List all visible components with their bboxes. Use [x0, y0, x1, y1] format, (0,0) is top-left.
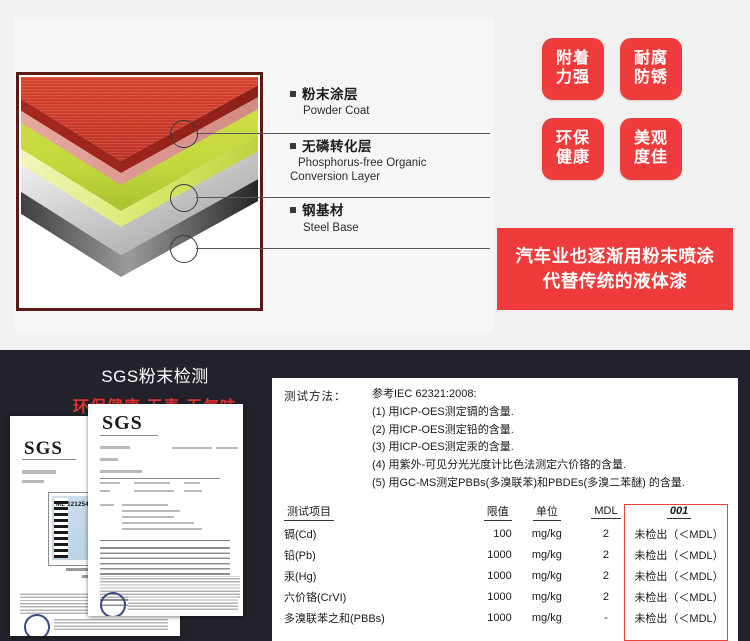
- cell-unit: mg/kg: [512, 544, 582, 565]
- layer-label-steel-en: Steel Base: [290, 221, 490, 235]
- cell-limit: 1000: [433, 586, 512, 607]
- layer-label-powder-cn: 粉末涂层: [290, 86, 490, 104]
- sgs-title-main: SGS粉末检测: [60, 362, 250, 387]
- cell-result: 未检出（＜MDL）: [630, 544, 728, 565]
- bullet-icon: [290, 207, 296, 213]
- feature-badge-eco: 环保 健康: [542, 118, 604, 180]
- layer-structure-diagram: [16, 72, 263, 311]
- cell-unit: mg/kg: [512, 586, 582, 607]
- cell-item: 汞(Hg): [284, 565, 433, 586]
- callout-circle-conversion: [170, 184, 198, 212]
- cell-mdl: -: [582, 607, 630, 628]
- cell-limit: 1000: [433, 565, 512, 586]
- feature-badge-appearance: 美观 度佳: [620, 118, 682, 180]
- cell-unit: mg/kg: [512, 523, 582, 544]
- bullet-icon: [290, 91, 296, 97]
- sgs-seal-front: [100, 592, 126, 616]
- layer-label-conversion: 无磷转化层 Phosphorus-free Organic Conversion…: [290, 138, 490, 188]
- slogan-banner: 汽车业也逐渐用粉末喷涂 代替传统的液体漆: [497, 228, 733, 310]
- cell-result: 未检出（＜MDL）: [630, 607, 728, 628]
- table-header-row: 测试项目 限值 单位 MDL 001: [284, 500, 728, 523]
- test-report-panel: 测试方法： 参考IEC 62321:2008: (1) 用ICP-OES测定镉的…: [272, 378, 738, 641]
- layer-label-powder: 粉末涂层 Powder Coat: [290, 86, 490, 122]
- feature-badge-eco-line1: 环保: [556, 130, 590, 149]
- cell-mdl: 2: [582, 523, 630, 544]
- test-method-line-5: (5) 用GC-MS测定PBBs(多溴联苯)和PBDEs(多溴二苯醚) 的含量.: [372, 475, 685, 493]
- test-method-lines: 参考IEC 62321:2008: (1) 用ICP-OES测定镉的含量. (2…: [372, 386, 685, 493]
- test-method-line-2: (2) 用ICP-OES测定铅的含量.: [372, 422, 685, 440]
- sgs-seal-back: [24, 614, 50, 636]
- layer-label-steel-cn: 钢基材: [290, 202, 490, 220]
- cell-limit: 1000: [433, 607, 512, 628]
- slogan-line1: 汽车业也逐渐用粉末喷涂: [515, 244, 714, 269]
- layer-label-conversion-en2: Conversion Layer: [290, 170, 490, 184]
- test-method-line-3: (3) 用ICP-OES测定汞的含量.: [372, 439, 685, 457]
- test-method-line-1: (1) 用ICP-OES测定镉的含量.: [372, 404, 685, 422]
- cell-unit: mg/kg: [512, 565, 582, 586]
- layer-label-conversion-cn-text: 无磷转化层: [302, 139, 372, 154]
- callout-circle-steel: [170, 235, 198, 263]
- test-method-line-0: 参考IEC 62321:2008:: [372, 386, 685, 404]
- sgs-section: SGS粉末检测 环保健康 无毒 无气味 SGS ML 1212541803 SG…: [0, 350, 750, 641]
- diagram-canvas: [21, 77, 258, 306]
- cell-result: 未检出（＜MDL）: [630, 523, 728, 544]
- cell-item: 铅(Pb): [284, 544, 433, 565]
- cell-unit: mg/kg: [512, 607, 582, 628]
- feature-badge-eco-line2: 健康: [556, 149, 590, 168]
- layer-label-steel-cn-text: 钢基材: [302, 203, 344, 218]
- cell-mdl: 2: [582, 565, 630, 586]
- col-header-item: 测试项目: [284, 500, 433, 523]
- layer-label-powder-cn-text: 粉末涂层: [302, 87, 358, 102]
- layer-label-conversion-en1: Phosphorus-free Organic: [290, 156, 490, 170]
- layer-label-steel: 钢基材 Steel Base: [290, 202, 490, 238]
- bullet-icon: [290, 143, 296, 149]
- sgs-logo-front: SGS: [102, 412, 143, 435]
- feature-badge-adhesion-line2: 力强: [556, 69, 590, 88]
- cell-limit: 1000: [433, 544, 512, 565]
- table-row: 汞(Hg) 1000 mg/kg 2 未检出（＜MDL）: [284, 565, 728, 586]
- top-section: 粉末涂层 Powder Coat 无磷转化层 Phosphorus-free O…: [0, 0, 750, 350]
- page-root: 粉末涂层 Powder Coat 无磷转化层 Phosphorus-free O…: [0, 0, 750, 641]
- leader-line-steel: [196, 248, 490, 249]
- layer-label-powder-en: Powder Coat: [290, 104, 490, 118]
- table-row: 铅(Pb) 1000 mg/kg 2 未检出（＜MDL）: [284, 544, 728, 565]
- callout-circle-powder: [170, 120, 198, 148]
- cell-result: 未检出（＜MDL）: [630, 586, 728, 607]
- test-method-line-4: (4) 用紫外-可见分光光度计比色法测定六价铬的含量.: [372, 457, 685, 475]
- feature-badge-appearance-line1: 美观: [634, 130, 668, 149]
- cell-item: 六价铬(CrVI): [284, 586, 433, 607]
- test-method-label: 测试方法：: [284, 388, 347, 404]
- sgs-certificate-front: SGS: [88, 404, 243, 616]
- cell-item: 多溴联苯之和(PBBs): [284, 607, 433, 628]
- table-row: 多溴联苯之和(PBBs) 1000 mg/kg - 未检出（＜MDL）: [284, 607, 728, 628]
- feature-badge-corrosion: 耐腐 防锈: [620, 38, 682, 100]
- feature-badge-corrosion-line2: 防锈: [634, 69, 668, 88]
- feature-badge-adhesion-line1: 附着: [556, 50, 590, 69]
- feature-badge-appearance-line2: 度佳: [634, 149, 668, 168]
- cell-mdl: 2: [582, 544, 630, 565]
- layer-label-conversion-cn: 无磷转化层: [290, 138, 490, 156]
- table-row: 六价铬(CrVI) 1000 mg/kg 2 未检出（＜MDL）: [284, 586, 728, 607]
- slogan-line2: 代替传统的液体漆: [543, 269, 688, 294]
- test-results-table: 测试项目 限值 单位 MDL 001 镉(Cd) 100 mg/kg 2 未检出…: [284, 500, 728, 628]
- layer-label-list: 粉末涂层 Powder Coat 无磷转化层 Phosphorus-free O…: [290, 86, 490, 239]
- cell-mdl: 2: [582, 586, 630, 607]
- col-header-mdl: MDL: [582, 500, 630, 523]
- cell-result: 未检出（＜MDL）: [630, 565, 728, 586]
- col-header-unit: 单位: [512, 500, 582, 523]
- feature-badge-adhesion: 附着 力强: [542, 38, 604, 100]
- table-body: 镉(Cd) 100 mg/kg 2 未检出（＜MDL） 铅(Pb) 1000 m…: [284, 523, 728, 628]
- cell-item: 镉(Cd): [284, 523, 433, 544]
- col-header-limit: 限值: [433, 500, 512, 523]
- layer-stack-illustration: [21, 77, 258, 306]
- cell-limit: 100: [433, 523, 512, 544]
- col-header-sample: 001: [630, 500, 728, 523]
- table-row: 镉(Cd) 100 mg/kg 2 未检出（＜MDL）: [284, 523, 728, 544]
- feature-badge-corrosion-line1: 耐腐: [634, 50, 668, 69]
- sgs-logo-back: SGS: [24, 438, 63, 460]
